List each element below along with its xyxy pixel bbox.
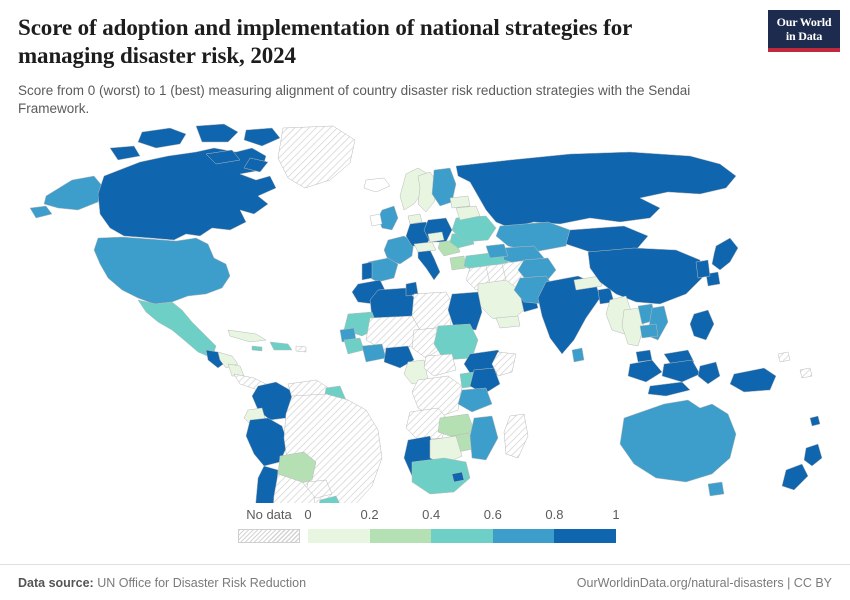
- country-baltics[interactable]: [450, 196, 470, 208]
- chart-subtitle: Score from 0 (worst) to 1 (best) measuri…: [18, 82, 763, 119]
- country-denmark[interactable]: [408, 214, 422, 224]
- country-libya[interactable]: [412, 292, 454, 330]
- chart-footer: Data source: UN Office for Disaster Risk…: [0, 564, 850, 600]
- country-new-zealand[interactable]: [782, 444, 822, 490]
- logo-red-bar: [768, 48, 840, 52]
- country-papua-new-guinea[interactable]: [730, 368, 776, 392]
- legend-no-data-swatch[interactable]: [238, 529, 300, 543]
- legend-bin-1[interactable]: [370, 529, 432, 543]
- data-source-value: UN Office for Disaster Risk Reduction: [94, 576, 306, 590]
- data-source: Data source: UN Office for Disaster Risk…: [18, 576, 306, 590]
- country-yemen[interactable]: [496, 316, 520, 328]
- country-mozambique[interactable]: [470, 416, 498, 460]
- country-guinea-sierraleone[interactable]: [344, 338, 364, 354]
- country-hispaniola[interactable]: [270, 342, 292, 350]
- country-greece[interactable]: [450, 256, 466, 270]
- country-ivory-coast-ghana[interactable]: [362, 344, 386, 362]
- legend-bin-4[interactable]: [554, 529, 616, 543]
- country-korea[interactable]: [696, 260, 710, 278]
- our-world-in-data-logo[interactable]: Our World in Data: [768, 10, 840, 52]
- country-car[interactable]: [424, 354, 456, 376]
- country-ireland[interactable]: [370, 214, 382, 226]
- legend-tick-3: 0.6: [484, 508, 502, 521]
- country-greenland[interactable]: [278, 126, 355, 188]
- legend-bin-2[interactable]: [431, 529, 493, 543]
- country-lesotho[interactable]: [452, 472, 464, 482]
- country-tanzania[interactable]: [458, 388, 492, 412]
- country-caucasus[interactable]: [486, 244, 508, 258]
- country-puerto-rico[interactable]: [296, 346, 306, 352]
- legend-no-data-label: No data: [238, 508, 300, 521]
- country-alaska[interactable]: [30, 176, 104, 218]
- legend-tick-5: 1: [612, 508, 619, 521]
- country-fiji[interactable]: [810, 416, 820, 426]
- country-united-states[interactable]: [94, 237, 230, 304]
- country-iceland[interactable]: [364, 178, 390, 192]
- country-japan[interactable]: [706, 238, 738, 286]
- country-portugal[interactable]: [362, 262, 372, 280]
- country-mexico[interactable]: [138, 300, 216, 358]
- legend-tick-2: 0.4: [422, 508, 440, 521]
- country-tasmania[interactable]: [708, 482, 724, 496]
- data-source-label: Data source:: [18, 576, 94, 590]
- country-philippines[interactable]: [690, 310, 714, 340]
- legend-tick-4: 0.8: [545, 508, 563, 521]
- country-madagascar[interactable]: [504, 414, 528, 458]
- country-australia[interactable]: [620, 400, 736, 482]
- legend-bin-0[interactable]: [308, 529, 370, 543]
- country-chile[interactable]: [236, 466, 278, 503]
- country-indonesia-kalimantan[interactable]: [662, 360, 700, 382]
- chart-header: Score of adoption and implementation of …: [0, 0, 850, 119]
- attribution-link[interactable]: OurWorldinData.org/natural-disasters | C…: [577, 576, 832, 590]
- world-choropleth-map[interactable]: [0, 118, 850, 503]
- country-russia[interactable]: [456, 152, 736, 228]
- legend-bin-3[interactable]: [493, 529, 555, 543]
- country-cuba[interactable]: [228, 330, 266, 342]
- map-legend: No data 0 0.2 0.4 0.6 0.8 1: [0, 508, 850, 553]
- country-pacific-islands[interactable]: [778, 352, 812, 378]
- country-indonesia-sulawesi[interactable]: [698, 362, 720, 384]
- legend-tick-0: 0: [304, 508, 311, 521]
- logo-line-1: Our World: [768, 16, 840, 30]
- country-czechia[interactable]: [428, 232, 444, 242]
- legend-tick-labels: 0 0.2 0.4 0.6 0.8 1: [308, 508, 616, 523]
- legend-no-data-group[interactable]: No data: [238, 508, 300, 543]
- legend-color-scale[interactable]: 0 0.2 0.4 0.6 0.8 1: [308, 508, 616, 543]
- logo-line-2: in Data: [768, 30, 840, 44]
- map-svg[interactable]: [0, 118, 850, 503]
- country-cambodia[interactable]: [640, 324, 658, 338]
- legend-color-bar[interactable]: [308, 529, 616, 543]
- country-indonesia-java[interactable]: [648, 382, 690, 396]
- country-indonesia-sumatra[interactable]: [628, 360, 662, 382]
- page-title: Score of adoption and implementation of …: [18, 14, 678, 70]
- legend-tick-1: 0.2: [361, 508, 379, 521]
- country-sri-lanka[interactable]: [572, 348, 584, 362]
- country-jamaica[interactable]: [252, 346, 262, 351]
- country-switzerland-austria[interactable]: [414, 242, 436, 252]
